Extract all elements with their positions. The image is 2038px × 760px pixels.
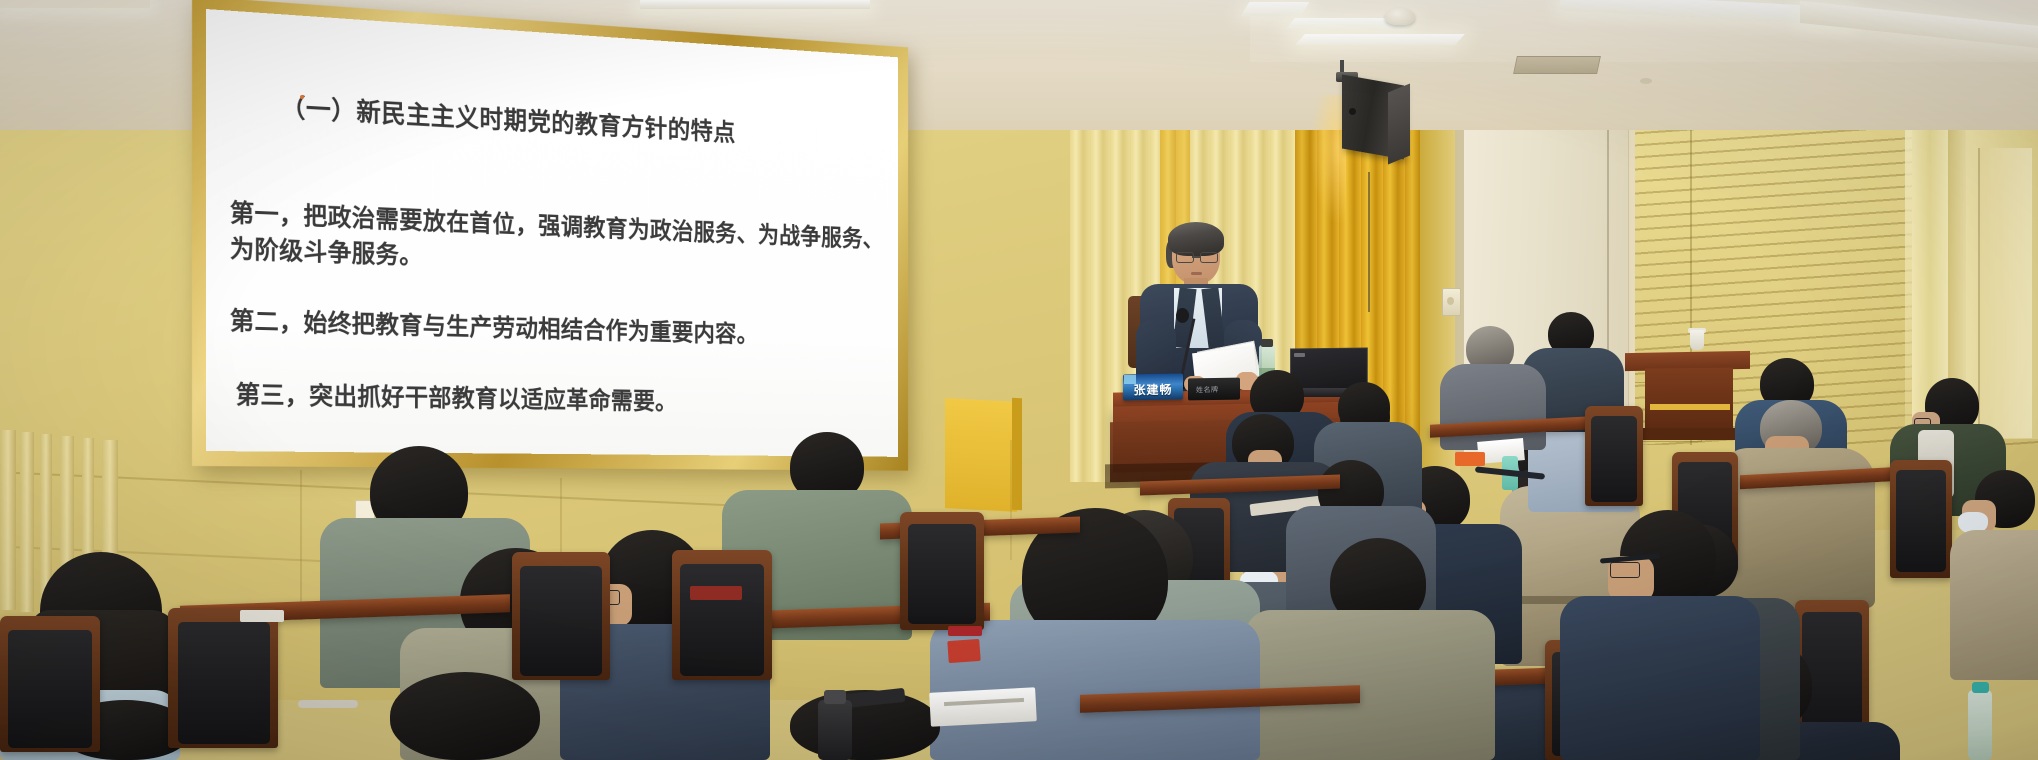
attendee-orange-folder	[1455, 452, 1485, 466]
smoke-detector-icon	[1385, 8, 1415, 25]
speaker-face	[1388, 84, 1410, 165]
desk-red-item	[690, 586, 742, 600]
lectern-cup[interactable]	[1690, 330, 1704, 350]
lectern-gold-trim	[1650, 404, 1730, 410]
microphone-icon[interactable]	[1176, 308, 1189, 323]
audience-chair-pad-l2	[520, 566, 602, 676]
speaker-cable	[1368, 172, 1370, 312]
lecture-hall-scene: （一）新民主主义时期党的教育方针的特点 第一，把政治需要放在首位，强调教育为政治…	[0, 0, 2038, 760]
desk-thermos-cap[interactable]	[824, 690, 846, 704]
audience-chair-pad-l0	[8, 630, 92, 748]
ceiling-light-1	[1241, 2, 1310, 16]
attendee-body	[1245, 610, 1495, 760]
gold-wall-panel	[945, 398, 1017, 512]
ceiling-light-6	[640, 0, 870, 9]
speaker-wall-glow	[1310, 95, 1346, 225]
lectern-base	[1640, 428, 1738, 440]
audience-chair-pad-cf1	[1591, 416, 1637, 502]
ceiling-light-7	[0, 0, 150, 8]
nameplate-text: 张建畅	[1126, 381, 1180, 399]
presenter-glasses-left	[1176, 252, 1194, 263]
desk-red-booklet	[947, 639, 980, 663]
laptop-logo	[1294, 353, 1305, 357]
audience-chair-pad-fr2	[1896, 470, 1946, 572]
audience-chair-pad-l1	[178, 622, 270, 744]
presenter-glasses-bridge	[1192, 256, 1200, 258]
slide-line-2: 第二，始终把教育与生产劳动相结合作为重要内容。	[230, 301, 898, 353]
water-bottle-cap[interactable]	[1261, 339, 1273, 347]
audience-water-bottle-cap[interactable]	[1972, 682, 1989, 693]
speaker-driver	[1349, 108, 1356, 115]
slide-line-1: 第一，把政治需要放在首位，强调教育为政治服务、为战争服务、为阶级斗争服务。	[230, 193, 898, 288]
audience-chair-pad-l4	[908, 524, 976, 624]
wall-seam-v4	[1010, 440, 1012, 560]
gold-wall-panel-edge	[1012, 398, 1022, 511]
presenter-mouth	[1191, 272, 1202, 275]
desk-red-case	[948, 626, 982, 636]
slide-line-3: 第三，突出抓好干部教育以适应革命需要。	[236, 375, 898, 420]
desk-papers-center	[929, 687, 1037, 727]
lectern-body	[1645, 368, 1733, 431]
wall-trim-1	[0, 430, 16, 610]
desk-cable	[298, 700, 358, 708]
slide-content: （一）新民主主义时期党的教育方针的特点 第一，把政治需要放在首位，强调教育为政治…	[222, 22, 898, 439]
attendee-body	[1440, 364, 1546, 450]
wall-seam-v1	[300, 470, 302, 620]
attendee-glasses	[1610, 562, 1640, 578]
presenter-hair	[1168, 222, 1224, 256]
ceiling-vent	[1513, 56, 1601, 74]
attendee-head	[390, 672, 540, 760]
audience-chair-pad-l3	[680, 564, 764, 676]
desk-white-item	[240, 610, 284, 622]
attendee-body	[1560, 596, 1760, 760]
slide-marker-dot	[300, 95, 304, 99]
wall-switch-button[interactable]	[1447, 297, 1454, 305]
wall-trim-2	[20, 432, 34, 612]
attendee-body	[1950, 530, 2038, 680]
secondary-placard-text: 姓名牌	[1196, 385, 1219, 395]
ceiling-light-3	[1295, 34, 1465, 45]
pilaster-inset	[1978, 148, 2032, 438]
audience-water-bottle[interactable]	[1968, 690, 1992, 760]
slide-title: （一）新民主主义时期党的教育方针的特点	[280, 87, 898, 157]
desk-thermos[interactable]	[818, 700, 852, 760]
presenter-glasses-right	[1200, 252, 1218, 263]
ceiling-fixture	[1640, 78, 1652, 84]
